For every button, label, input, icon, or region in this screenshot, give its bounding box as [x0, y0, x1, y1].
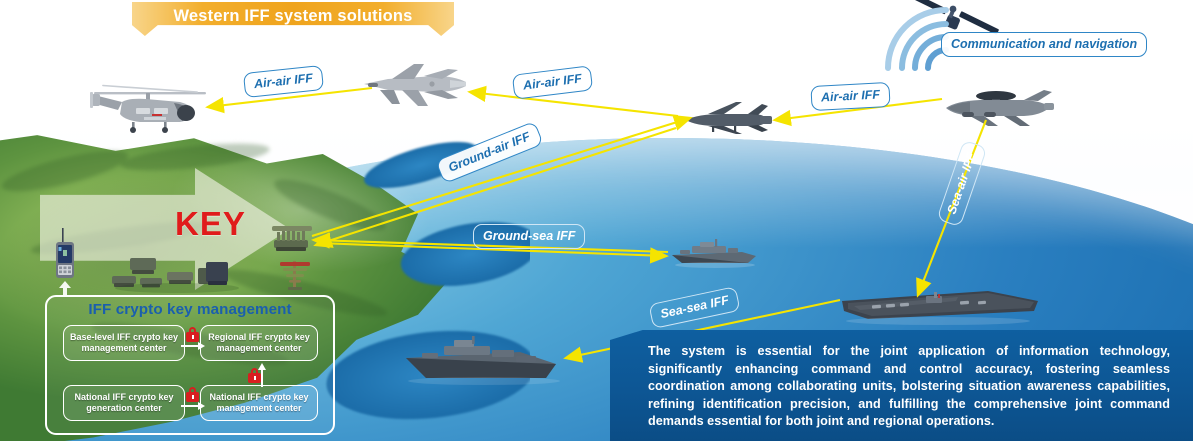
frigate-ship-icon	[400, 336, 564, 388]
fighter-jet-icon	[362, 62, 474, 112]
crypto-panel-title: IFF crypto key management	[45, 301, 335, 318]
crypto-arrow-natgen-to-natmgmt	[180, 400, 206, 412]
crypto-arrow-natmgmt-to-regional	[256, 362, 268, 388]
pill-communication-navigation[interactable]: Communication and navigation	[941, 32, 1147, 57]
handheld-terminal-icon	[52, 228, 78, 286]
crypto-arrow-base-to-regional	[180, 340, 206, 352]
crypto-box-regional[interactable]: Regional IFF crypto key management cente…	[200, 325, 318, 361]
crypto-box-national-management[interactable]: National IFF crypto key management cente…	[200, 385, 318, 421]
military-vehicles-icon	[112, 248, 242, 294]
awacs-aircraft-icon	[940, 82, 1056, 130]
radar-tower-icon	[278, 255, 312, 291]
helicopter-icon	[88, 72, 214, 134]
pill-air-air-3[interactable]: Air-air IFF	[810, 82, 890, 111]
pill-ground-sea[interactable]: Ground-sea IFF	[473, 224, 585, 249]
iff-system-infographic: KEY	[0, 0, 1193, 441]
page-title: Western IFF system solutions	[132, 7, 454, 26]
crypto-box-national-generation[interactable]: National IFF crypto key generation cente…	[63, 385, 185, 421]
uav-drone-icon	[678, 100, 774, 136]
destroyer-ship-icon	[670, 239, 758, 269]
info-panel-text: The system is essential for the joint ap…	[648, 343, 1170, 431]
crypto-box-base-level[interactable]: Base-level IFF crypto key management cen…	[63, 325, 185, 361]
radar-vehicle-icon	[270, 224, 316, 254]
aircraft-carrier-icon	[838, 281, 1044, 329]
key-label: KEY	[175, 205, 246, 243]
